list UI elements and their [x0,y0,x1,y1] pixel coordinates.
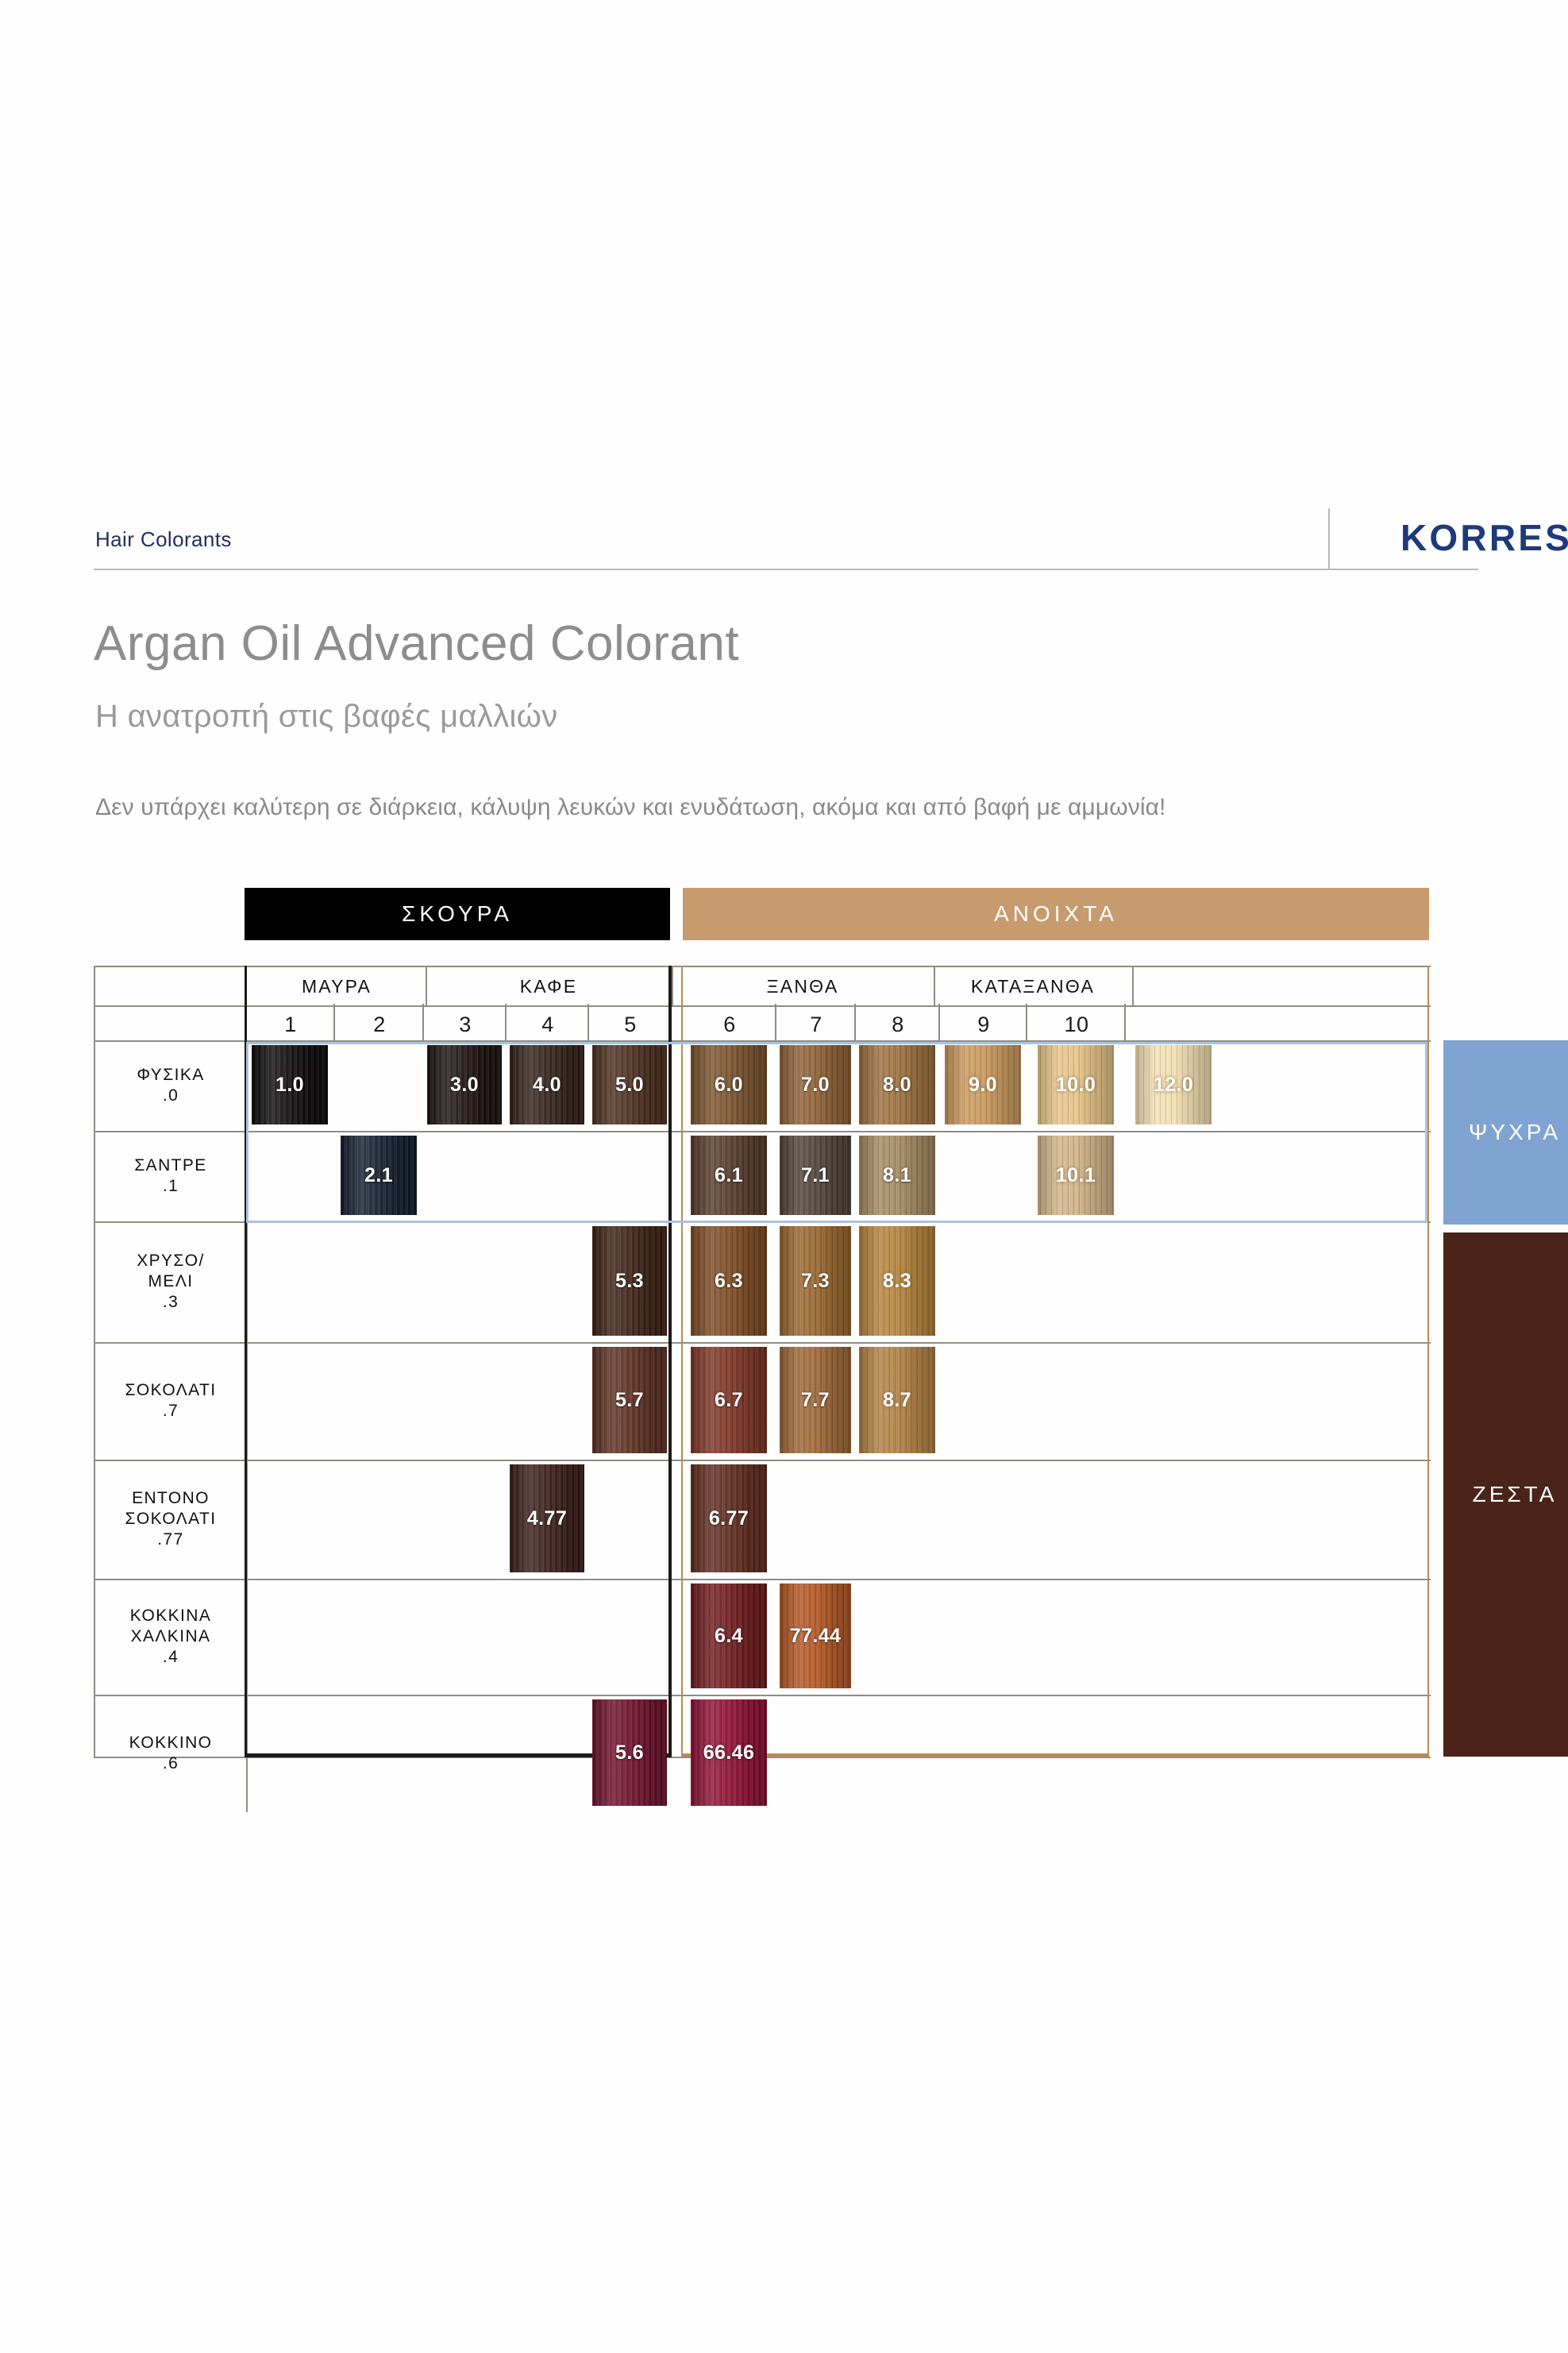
group-header-spacer [95,967,248,1005]
row-label-line: .1 [163,1176,179,1197]
separator-dark-right [668,966,672,1757]
group-header-kafe: ΚΑΦΕ [426,967,673,1005]
breadcrumb: Hair Colorants [95,527,232,552]
shade-code: 7.0 [801,1074,830,1097]
shade-swatch-1.0[interactable]: 1.0 [252,1045,328,1124]
row-label-line: ΜΕΛΙ [148,1271,194,1292]
row-divider [95,1460,1431,1461]
shade-swatch-5.0[interactable]: 5.0 [592,1045,667,1124]
row-label-4: ΚΟΚΚΙΝΑΧΑΛΚΙΝΑ.4 [95,1579,248,1695]
header-divider [1328,508,1330,569]
group-header-row: ΜΑΥΡΑ ΚΑΦΕ ΞΑΝΘΑ ΚΑΤΑΞΑΝΘΑ [94,966,1431,1007]
row-label-1: ΣΑΝΤΡΕ.1 [95,1131,248,1221]
shade-swatch-8.0[interactable]: 8.0 [859,1045,935,1124]
separator-light-left [681,966,683,1757]
row-label-line: .6 [163,1753,179,1774]
column-number-7: 7 [778,1004,856,1040]
separator-light-right [1427,966,1429,1757]
row-label-3: ΧΡΥΣΟ/ΜΕΛΙ.3 [95,1221,248,1342]
page-title: Argan Oil Advanced Colorant [94,615,739,672]
shade-code: 5.6 [615,1742,644,1765]
shade-swatch-6.0[interactable]: 6.0 [691,1045,767,1124]
shade-swatch-5.3[interactable]: 5.3 [592,1226,667,1336]
shade-code: 6.0 [715,1074,743,1097]
column-number-row: 12345678910 [94,1004,1431,1042]
shade-swatch-5.6[interactable]: 5.6 [592,1699,667,1806]
shade-code: 6.4 [715,1625,743,1648]
page-sheet: Hair Colorants KORRES Argan Oil Advanced… [0,0,1568,2353]
shade-swatch-7.3[interactable]: 7.3 [780,1226,851,1336]
shade-swatch-4.0[interactable]: 4.0 [510,1045,584,1124]
shade-swatch-7.1[interactable]: 7.1 [780,1136,851,1215]
shade-swatch-6.3[interactable]: 6.3 [691,1226,767,1336]
shade-code: 4.0 [533,1074,561,1097]
shade-swatch-9.0[interactable]: 9.0 [945,1045,1021,1124]
shade-code: 5.3 [615,1270,644,1293]
shade-swatch-6.7[interactable]: 6.7 [691,1347,767,1453]
row-label-line: .3 [163,1292,179,1313]
column-number-1: 1 [248,1004,335,1040]
row-label-line: ΣΟΚΟΛΑΤΙ [125,1380,217,1401]
header-rule [94,569,1478,570]
row-label-line: .77 [157,1529,183,1550]
shade-code: 5.7 [615,1389,644,1412]
row-label-line: ΣΟΚΟΛΑΤΙ [125,1509,217,1529]
group-header-kataxantha: ΚΑΤΑΞΑΝΘΑ [934,967,1134,1005]
separator-dark-left [245,966,247,1757]
shade-code: 6.7 [715,1389,743,1412]
row-label-line: ΧΡΥΣΟ/ [137,1251,205,1271]
shade-code: 7.7 [801,1389,830,1412]
shade-code: 5.0 [615,1074,644,1097]
row-label-line: .4 [163,1647,179,1668]
shade-swatch-6.77[interactable]: 6.77 [691,1464,767,1572]
column-number-9: 9 [942,1004,1027,1040]
shade-swatch-66.46[interactable]: 66.46 [691,1699,767,1806]
row-label-line: ΕΝΤΟΝΟ [132,1488,210,1509]
band-skoura: ΣΚΟΥΡΑ [245,888,670,940]
column-number-3: 3 [426,1004,507,1040]
page-header: Hair Colorants KORRES [94,508,1478,570]
group-header-xantha: ΞΑΝΘΑ [672,967,935,1005]
shade-code: 7.3 [801,1270,830,1293]
group-header-trailing [1132,967,1431,1005]
shade-swatch-7.7[interactable]: 7.7 [780,1347,851,1453]
shade-swatch-8.3[interactable]: 8.3 [859,1226,935,1336]
shade-swatch-77.44[interactable]: 77.44 [780,1583,851,1688]
page-tagline: Δεν υπάρχει καλύτερη σε διάρκεια, κάλυψη… [95,794,1165,821]
page-subtitle: Η ανατροπή στις βαφές μαλλιών [95,699,558,735]
shade-code: 8.3 [883,1270,911,1293]
shade-code: 1.0 [275,1074,304,1097]
shade-code: 3.0 [450,1074,479,1097]
column-number-spacer [95,1004,248,1040]
korres-logo: KORRES [1400,516,1568,559]
shade-code: 77.44 [790,1625,842,1648]
panel-psyxra: ΨΥΧΡΑ [1443,1040,1568,1225]
column-number-6: 6 [684,1004,776,1040]
shade-code: 8.0 [883,1074,911,1097]
shade-code: 6.1 [715,1164,743,1187]
shade-code: 6.77 [709,1507,749,1530]
shade-code: 9.0 [969,1074,997,1097]
row-divider [95,1131,1431,1132]
shade-code: 10.0 [1056,1074,1096,1097]
shade-swatch-2.1[interactable]: 2.1 [341,1136,417,1215]
shade-code: 7.1 [801,1164,830,1187]
shade-code: 66.46 [703,1742,755,1765]
shade-swatch-6.4[interactable]: 6.4 [691,1583,767,1688]
column-number-4: 4 [508,1004,589,1040]
shade-code: 4.77 [527,1507,567,1530]
row-label-77: ΕΝΤΟΝΟΣΟΚΟΛΑΤΙ.77 [95,1460,248,1579]
column-number-2: 2 [337,1004,424,1040]
separator-light-bottom [681,1753,1429,1757]
shade-swatch-12.0[interactable]: 12.0 [1135,1045,1212,1124]
row-divider [95,1695,1431,1696]
row-divider [95,1579,1431,1580]
shade-swatch-8.7[interactable]: 8.7 [859,1347,935,1453]
shade-swatch-6.1[interactable]: 6.1 [691,1136,767,1215]
row-label-7: ΣΟΚΟΛΑΤΙ.7 [95,1342,248,1460]
shade-swatch-5.7[interactable]: 5.7 [592,1347,667,1453]
row-label-line: ΦΥΣΙΚΑ [137,1065,204,1086]
row-divider [95,1221,1431,1223]
shade-swatch-4.77[interactable]: 4.77 [510,1464,584,1572]
column-number-5: 5 [591,1004,672,1040]
shade-code: 10.1 [1056,1164,1096,1187]
column-number-10: 10 [1029,1004,1126,1040]
band-anoixta: ΑΝΟΙΧΤΑ [683,888,1429,940]
shade-code: 2.1 [364,1164,393,1187]
shade-code: 8.7 [883,1389,911,1412]
shade-code: 8.1 [883,1164,911,1187]
group-header-mavra: ΜΑΥΡΑ [248,967,427,1005]
row-label-line: ΚΟΚΚΙΝΑ [130,1606,212,1626]
panel-zesta: ΖΕΣΤΑ [1443,1232,1568,1757]
shade-chart: ΣΚΟΥΡΑ ΑΝΟΙΧΤΑ ΜΑΥΡΑ ΚΑΦΕ ΞΑΝΘΑ ΚΑΤΑΞΑΝΘ… [94,888,1485,1761]
row-label-line: .7 [163,1401,179,1421]
column-number-8: 8 [857,1004,940,1040]
shade-swatch-7.0[interactable]: 7.0 [780,1045,851,1124]
row-divider [95,1342,1431,1344]
row-label-0: ΦΥΣΙΚΑ.0 [95,1040,248,1131]
shade-swatch-10.1[interactable]: 10.1 [1038,1136,1114,1215]
row-label-line: ΣΑΝΤΡΕ [134,1155,206,1176]
row-label-6: ΚΟΚΚΙΝΟ.6 [95,1695,248,1812]
shade-swatch-10.0[interactable]: 10.0 [1038,1045,1114,1124]
shade-swatch-3.0[interactable]: 3.0 [427,1045,502,1124]
shade-swatch-8.1[interactable]: 8.1 [859,1136,935,1215]
shade-code: 12.0 [1154,1074,1193,1097]
row-label-line: ΚΟΚΚΙΝΟ [129,1733,213,1753]
shade-code: 6.3 [715,1270,743,1293]
row-label-line: .0 [163,1086,179,1106]
row-label-line: ΧΑΛΚΙΝΑ [131,1626,211,1647]
